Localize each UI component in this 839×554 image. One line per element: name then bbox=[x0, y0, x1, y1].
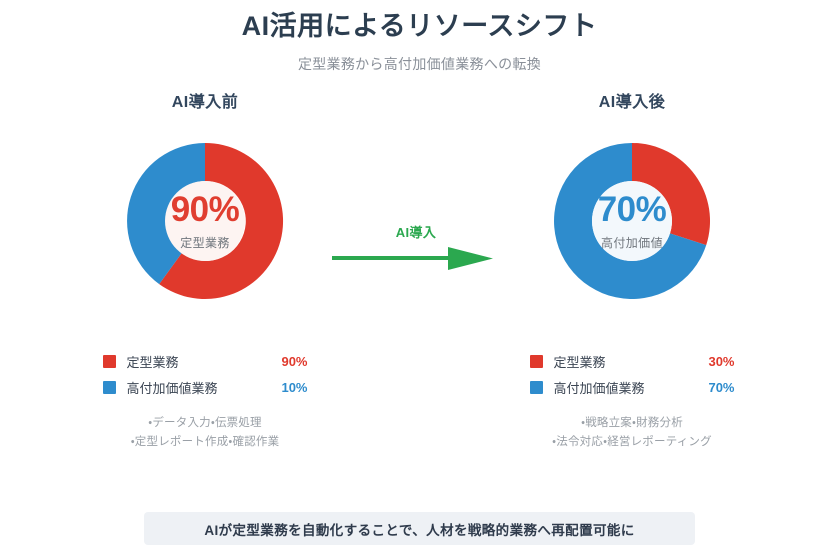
legend-value: 90% bbox=[262, 354, 308, 369]
page-header: AI活用によるリソースシフト 定型業務から高付加価値業務への転換 bbox=[0, 10, 839, 74]
note-line: ・戦略立案・財務分析 bbox=[462, 414, 802, 433]
notes-after: ・戦略立案・財務分析 ・法令対応・経営レポーティング bbox=[462, 414, 802, 452]
panel-before: AI導入前 90% 定型業務 定型業務 90% 高付加価値業務 10% ・データ… bbox=[35, 88, 375, 452]
donut-chart-after: 70% 高付加価値 bbox=[547, 136, 717, 306]
legend-row[interactable]: 高付加価値業務 10% bbox=[103, 374, 308, 400]
donut-before-hole bbox=[165, 181, 245, 261]
notes-before: ・データ入力・伝票処理 ・定型レポート作成・確認作業 bbox=[35, 414, 375, 452]
summary-banner: AIが定型業務を自動化することで、人材を戦略的業務へ再配置可能に bbox=[144, 512, 695, 545]
legend-swatch-blue-icon bbox=[530, 381, 543, 394]
legend-value: 30% bbox=[689, 354, 735, 369]
legend-after: 定型業務 30% 高付加価値業務 70% bbox=[530, 348, 735, 400]
donut-chart-before: 90% 定型業務 bbox=[120, 136, 290, 306]
summary-message: AIが定型業務を自動化することで、人材を戦略的業務へ再配置可能に bbox=[204, 519, 634, 539]
legend-row[interactable]: 高付加価値業務 70% bbox=[530, 374, 735, 400]
legend-value: 10% bbox=[262, 380, 308, 395]
page-title: AI活用によるリソースシフト bbox=[0, 10, 839, 44]
legend-swatch-blue-icon bbox=[103, 381, 116, 394]
panel-after: AI導入後 70% 高付加価値 定型業務 30% 高付加価値業務 70% ・戦略… bbox=[462, 88, 802, 452]
note-line: ・法令対応・経営レポーティング bbox=[462, 433, 802, 452]
legend-swatch-red-icon bbox=[103, 355, 116, 368]
legend-value: 70% bbox=[689, 380, 735, 395]
legend-label: 高付加価値業務 bbox=[554, 378, 689, 397]
note-line: ・定型レポート作成・確認作業 bbox=[35, 433, 375, 452]
page-subtitle: 定型業務から高付加価値業務への転換 bbox=[0, 54, 839, 74]
legend-label: 定型業務 bbox=[554, 352, 689, 371]
legend-label: 定型業務 bbox=[127, 352, 262, 371]
legend-before: 定型業務 90% 高付加価値業務 10% bbox=[103, 348, 308, 400]
donut-before-svg bbox=[120, 136, 290, 306]
note-line: ・データ入力・伝票処理 bbox=[35, 414, 375, 433]
legend-swatch-red-icon bbox=[530, 355, 543, 368]
donut-after-svg bbox=[547, 136, 717, 306]
panel-after-title: AI導入後 bbox=[462, 88, 802, 112]
legend-row[interactable]: 定型業務 30% bbox=[530, 348, 735, 374]
donut-after-hole bbox=[592, 181, 672, 261]
legend-row[interactable]: 定型業務 90% bbox=[103, 348, 308, 374]
panel-before-title: AI導入前 bbox=[35, 88, 375, 112]
legend-label: 高付加価値業務 bbox=[127, 378, 262, 397]
